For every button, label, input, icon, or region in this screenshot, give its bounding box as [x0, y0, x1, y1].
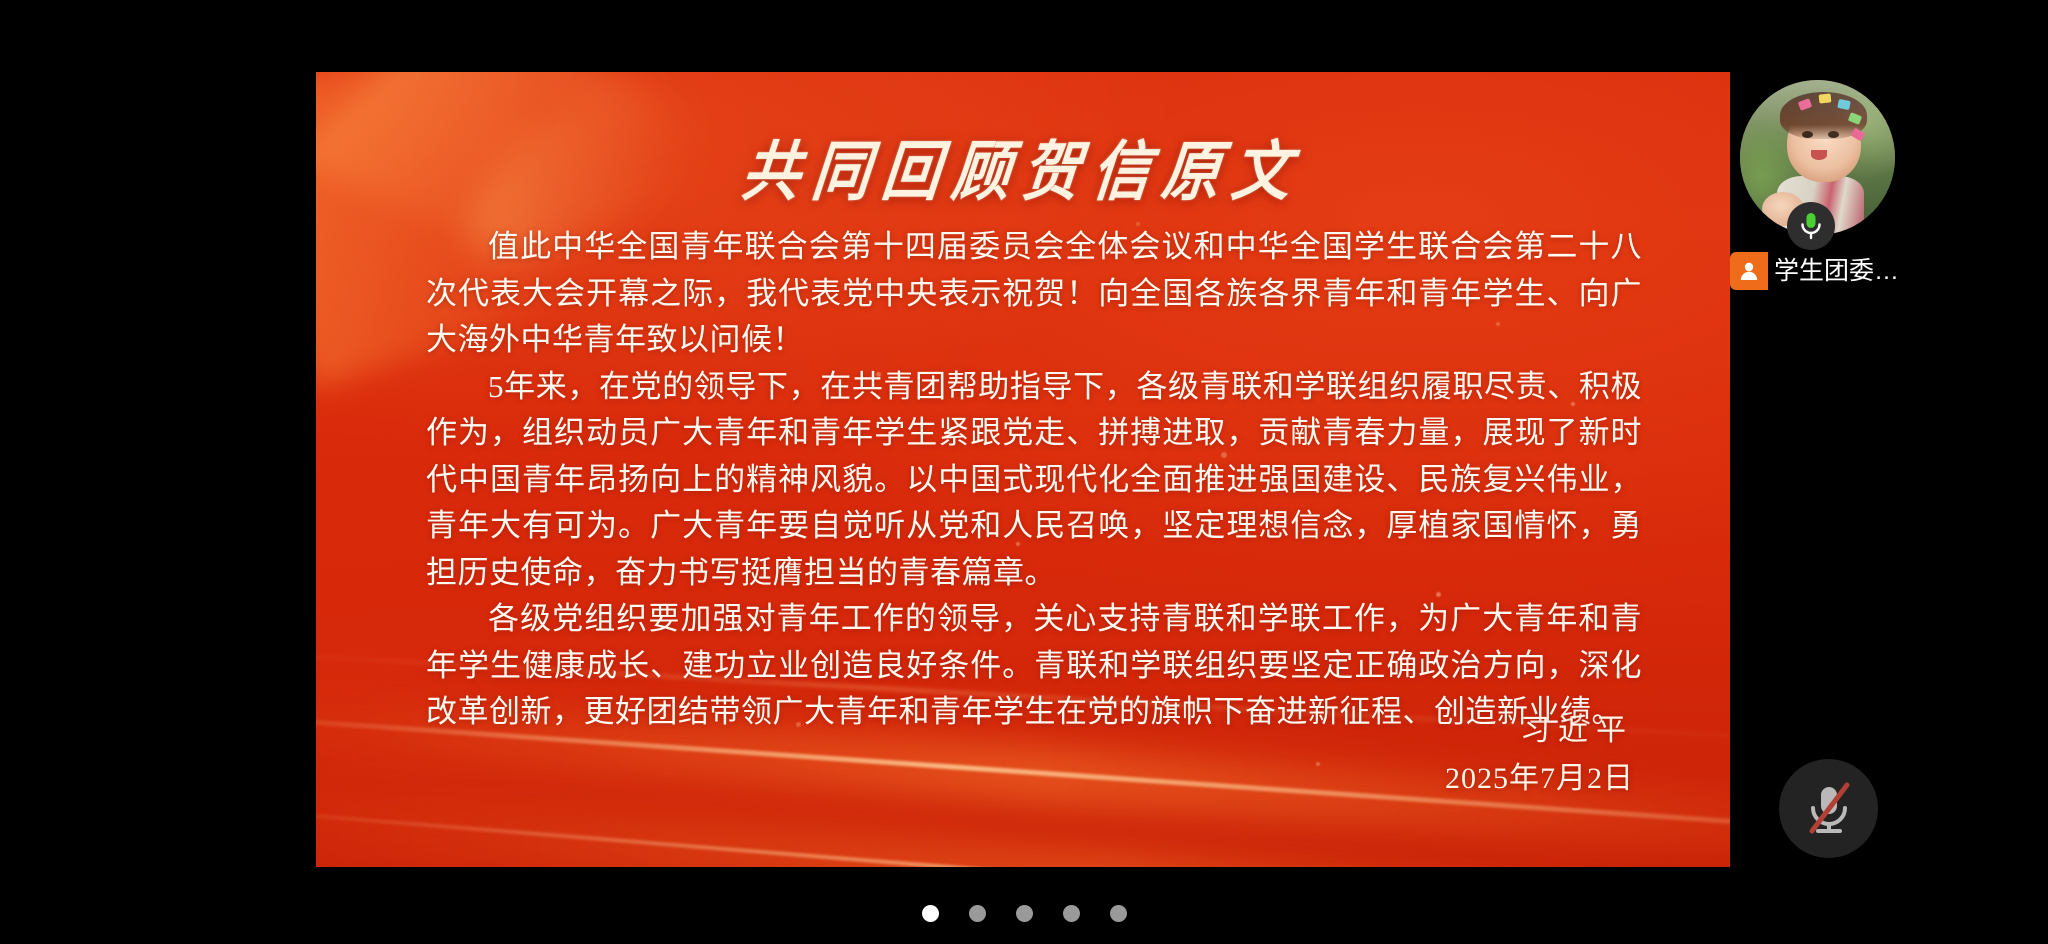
slide-title: 共同回顾贺信原文 — [316, 119, 1730, 213]
light-streak — [316, 805, 1730, 867]
signature-date: 2025年7月2日 — [1445, 755, 1634, 803]
microphone-icon — [1798, 211, 1824, 241]
slide-paragraph: 5年来，在党的领导下，在共青团帮助指导下，各级青联和学联组织履职尽责、积极作为，… — [426, 364, 1642, 597]
pagination-dot-4[interactable] — [1063, 905, 1080, 922]
mic-status-badge[interactable] — [1787, 202, 1835, 250]
mute-toggle-button[interactable] — [1779, 759, 1878, 858]
pagination-dot-5[interactable] — [1110, 905, 1127, 922]
pagination-dots — [0, 905, 2048, 922]
participant-name: 学生团委… — [1768, 252, 1907, 290]
microphone-muted-icon — [1803, 781, 1855, 837]
pagination-dot-3[interactable] — [1016, 905, 1033, 922]
pagination-dot-2[interactable] — [969, 905, 986, 922]
signature-block: 习近平 2025年7月2日 — [1445, 707, 1634, 803]
signature-name: 习近平 — [1445, 707, 1634, 755]
slide-body: 值此中华全国青年联合会第十四届委员会全体会议和中华全国学生联合会第二十八次代表大… — [426, 224, 1642, 736]
ember-particle-icon — [1316, 762, 1320, 766]
participant-name-row: 学生团委… — [1730, 252, 1907, 290]
pagination-dot-1[interactable] — [922, 905, 939, 922]
shared-slide[interactable]: 共同回顾贺信原文 值此中华全国青年联合会第十四届委员会全体会议和中华全国学生联合… — [316, 72, 1730, 867]
person-icon — [1730, 252, 1768, 290]
slide-paragraph: 值此中华全国青年联合会第十四届委员会全体会议和中华全国学生联合会第二十八次代表大… — [426, 224, 1642, 364]
participant-tile[interactable]: 学生团委… — [1730, 72, 1944, 318]
screen-share-viewer: 共同回顾贺信原文 值此中华全国青年联合会第十四届委员会全体会议和中华全国学生联合… — [0, 0, 2048, 944]
